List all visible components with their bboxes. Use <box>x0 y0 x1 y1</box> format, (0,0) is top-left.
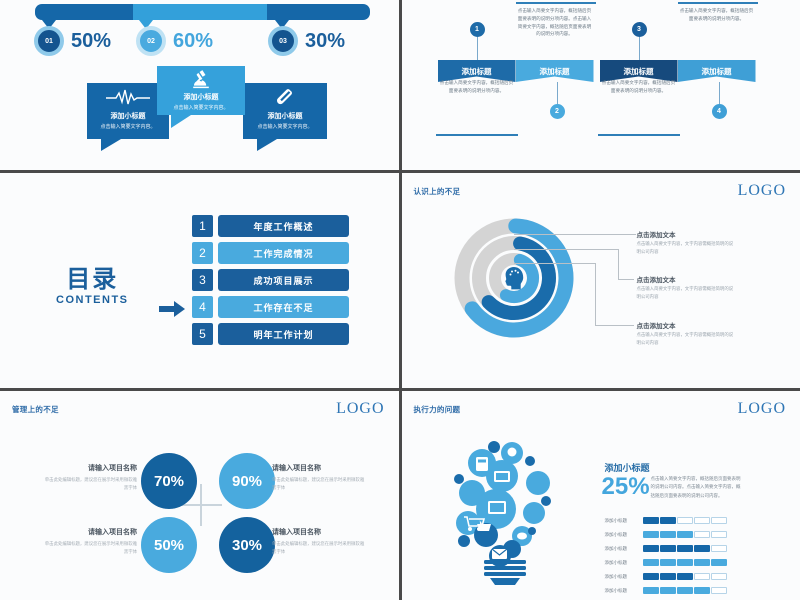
chevron-title-1: 添加标题 <box>462 66 492 77</box>
stat-circle-4: 30% <box>219 517 275 573</box>
slide-thumbnail-grid: 01 50% 02 60% 03 30% 添加小标题 点击输入简要文字内容。 <box>0 0 800 600</box>
progress-row-3: 添加小标题 <box>605 545 727 552</box>
progress-label: 添加小标题 <box>605 574 637 580</box>
bubble-body: 点击输入简要文字内容。 <box>243 123 327 130</box>
contents-item-label: 成功项目展示 <box>218 269 349 291</box>
chevron-stem-2 <box>557 82 558 106</box>
bubble-tail <box>257 139 277 151</box>
leader-line-2b <box>618 249 619 279</box>
progress-track <box>643 559 727 566</box>
logo-placeholder: LOGO <box>336 400 384 418</box>
contents-item-number: 5 <box>192 323 213 345</box>
callout-body-1: 点击输入简要文字内容，文字内容需概括简明的说明公司内容 <box>637 240 737 256</box>
contents-item-1[interactable]: 1 年度工作概述 <box>192 215 349 237</box>
progress-row-5: 添加小标题 <box>605 573 727 580</box>
chevron-band-4: 添加标题 <box>678 60 756 82</box>
bar-segment-3 <box>267 4 370 20</box>
stat-caption-heading: 请输入项目名称 <box>272 463 365 473</box>
contents-item-4[interactable]: 4 工作存在不足 <box>192 296 349 318</box>
kpi-percent: 60% <box>173 30 213 53</box>
big-percent: 25% <box>602 473 650 501</box>
logo-placeholder: LOGO <box>738 400 786 418</box>
stat-caption-3: 请输入项目名称 单击此处编辑标题，建议您在展示时采用微软雅黑字体 <box>44 527 137 555</box>
info-bubble-2: 添加小标题 点击输入简要文字内容。 <box>157 66 245 115</box>
bubble-tail <box>171 115 191 128</box>
logo-placeholder: LOGO <box>738 182 786 200</box>
leader-line-1 <box>514 234 636 235</box>
contents-item-number: 1 <box>192 215 213 237</box>
progress-label: 添加小标题 <box>605 518 637 524</box>
kpi-number-badge: 03 <box>268 26 298 56</box>
test-tube-icon <box>243 87 327 109</box>
bar-segment-2 <box>133 4 267 20</box>
microscope-icon <box>157 68 245 90</box>
stat-caption-body: 单击此处编辑标题，建议您在展示时采用微软雅黑字体 <box>272 476 365 491</box>
progress-row-2: 添加小标题 <box>605 531 727 538</box>
chevron-number-1: 1 <box>470 22 485 37</box>
stat-caption-4: 请输入项目名称 单击此处编辑标题，建议您在展示时采用微软雅黑字体 <box>272 527 365 555</box>
stat-caption-1: 请输入项目名称 单击此处编辑标题，建议您在展示时采用微软雅黑字体 <box>44 463 137 491</box>
progress-track <box>643 517 727 524</box>
contents-item-2[interactable]: 2 工作完成情况 <box>192 242 349 264</box>
kpi-number-badge: 01 <box>34 26 64 56</box>
stat-caption-2: 请输入项目名称 单击此处编辑标题，建议您在展示时采用微软雅黑字体 <box>272 463 365 491</box>
idea-bulb-icon-cluster <box>450 431 560 586</box>
bubble-tail <box>101 139 121 151</box>
progress-label: 添加小标题 <box>605 588 637 594</box>
contents-title-en: CONTENTS <box>56 294 129 306</box>
bubble-heading: 添加小标题 <box>243 111 327 121</box>
chevron-title-4: 添加标题 <box>702 66 732 77</box>
leader-line-3c <box>595 325 634 326</box>
stat-circle-3: 50% <box>141 517 197 573</box>
bottom-rule-2 <box>598 134 680 136</box>
progress-label: 添加小标题 <box>605 546 637 552</box>
bubble-heading: 添加小标题 <box>157 92 245 102</box>
leader-line-2c <box>618 279 634 280</box>
chevron-body-3: 点击输入简要文字内容，概括随后页面要表明的说明分项内容。 <box>600 79 678 95</box>
progress-track <box>643 587 727 594</box>
chevron-stem-3 <box>639 37 640 60</box>
chevron-stem-1 <box>477 37 478 60</box>
chevron-body-2: 点击输入简要文字内容，概括随后页面要表明的说明分项内容。点击输入简要文字内容，概… <box>516 7 594 38</box>
arrow-right-icon <box>159 301 185 322</box>
callout-heading-2: 点击添加文本 <box>637 274 676 284</box>
chevron-number-2: 2 <box>550 104 565 119</box>
slide-title: 管理上的不足 <box>12 404 59 415</box>
contents-item-label: 年度工作概述 <box>218 215 349 237</box>
chevron-stem-4 <box>719 82 720 106</box>
stat-caption-heading: 请输入项目名称 <box>44 463 137 473</box>
contents-list: 1 年度工作概述 2 工作完成情况 3 成功项目展示 4 工作存在不足 5 <box>192 215 349 345</box>
contents-item-number: 2 <box>192 242 213 264</box>
stat-caption-body: 单击此处编辑标题，建议您在展示时采用微软雅黑字体 <box>272 540 365 555</box>
chevron-number-3: 3 <box>632 22 647 37</box>
slide-thumbnail-5[interactable]: 管理上的不足 LOGO 70% 90% 50% 30% 请输入项目名称 单击此处… <box>0 391 399 600</box>
progress-track <box>643 573 727 580</box>
callout-heading-3: 点击添加文本 <box>637 320 676 330</box>
kpi-item-1: 01 50% <box>34 26 111 56</box>
contents-item-label: 明年工作计划 <box>218 323 349 345</box>
contents-item-number: 4 <box>192 296 213 318</box>
info-bubble-3: 添加小标题 点击输入简要文字内容。 <box>243 83 327 139</box>
contents-item-label: 工作完成情况 <box>218 242 349 264</box>
stat-circle-1: 70% <box>141 453 197 509</box>
leader-line-2a <box>514 249 619 250</box>
chevron-number-4: 4 <box>712 104 727 119</box>
bubble-body: 点击输入简要文字内容。 <box>157 104 245 111</box>
sub-body-text: 点击输入简要文字内容，概括随后页面要表明的说明公司内容。点击输入简要文字内容，概… <box>651 475 742 500</box>
progress-label: 添加小标题 <box>605 560 637 566</box>
contents-item-number: 3 <box>192 269 213 291</box>
callout-body-3: 点击输入简要文字内容，文字内容需概括简明的说明公司内容 <box>637 331 737 347</box>
contents-title: 目录 CONTENTS <box>56 259 129 306</box>
slide-thumbnail-3[interactable]: 目录 CONTENTS 1 年度工作概述 2 工作完成情况 3 <box>0 173 399 388</box>
slide-thumbnail-1[interactable]: 01 50% 02 60% 03 30% 添加小标题 点击输入简要文字内容。 <box>0 0 399 170</box>
slide-title: 认识上的不足 <box>414 186 461 197</box>
stat-circle-2: 90% <box>219 453 275 509</box>
chevron-title-2: 添加标题 <box>540 66 570 77</box>
top-rule-2 <box>678 2 758 4</box>
leader-line-3b <box>595 263 596 326</box>
concentric-donut-chart <box>449 213 579 343</box>
leader-line-3a <box>514 263 596 264</box>
progress-row-4: 添加小标题 <box>605 559 727 566</box>
stat-caption-heading: 请输入项目名称 <box>272 527 365 537</box>
stat-caption-heading: 请输入项目名称 <box>44 527 137 537</box>
top-rule-1 <box>516 2 596 4</box>
chevron-body-4: 点击输入简要文字内容，概括随后页面要表明的说明分项内容。 <box>678 7 756 23</box>
progress-track <box>643 531 727 538</box>
slide-thumbnail-6[interactable]: 执行力的问题 LOGO <box>402 391 800 600</box>
contents-item-label: 工作存在不足 <box>218 296 349 318</box>
kpi-percent: 50% <box>71 30 111 53</box>
chevron-band-2: 添加标题 <box>516 60 594 82</box>
progress-row-1: 添加小标题 <box>605 517 727 524</box>
progress-row-6: 添加小标题 <box>605 587 727 594</box>
slide-title: 执行力的问题 <box>414 404 461 415</box>
callout-body-2: 点击输入简要文字内容，文字内容需概括简明的说明公司内容 <box>637 285 737 301</box>
bottom-rule-1 <box>436 134 518 136</box>
contents-title-cn: 目录 <box>56 259 129 294</box>
progress-bar-strip <box>35 4 370 20</box>
kpi-item-3: 03 30% <box>268 26 345 56</box>
bar-segment-1 <box>35 4 133 20</box>
head-gear-icon <box>505 267 523 289</box>
plus-divider-horizontal <box>180 504 222 506</box>
chevron-title-3: 添加标题 <box>624 66 654 77</box>
contents-item-3[interactable]: 3 成功项目展示 <box>192 269 349 291</box>
kpi-percent: 30% <box>305 30 345 53</box>
chevron-body-1: 点击输入简要文字内容，概括随后页面要表明的说明分项内容。 <box>438 79 516 95</box>
slide-thumbnail-4[interactable]: 认识上的不足 LOGO <box>402 173 800 388</box>
kpi-number-badge: 02 <box>136 26 166 56</box>
stat-caption-body: 单击此处编辑标题，建议您在展示时采用微软雅黑字体 <box>44 540 137 555</box>
slide-thumbnail-2[interactable]: 点击输入简要文字内容，概括随后页面要表明的说明分项内容。点击输入简要文字内容，概… <box>402 0 800 170</box>
progress-label: 添加小标题 <box>605 532 637 538</box>
contents-item-5[interactable]: 5 明年工作计划 <box>192 323 349 345</box>
callout-heading-1: 点击添加文本 <box>637 229 676 239</box>
bubble-body: 点击输入简要文字内容。 <box>87 123 169 130</box>
kpi-item-2: 02 60% <box>136 26 213 56</box>
progress-track <box>643 545 727 552</box>
stat-caption-body: 单击此处编辑标题，建议您在展示时采用微软雅黑字体 <box>44 476 137 491</box>
